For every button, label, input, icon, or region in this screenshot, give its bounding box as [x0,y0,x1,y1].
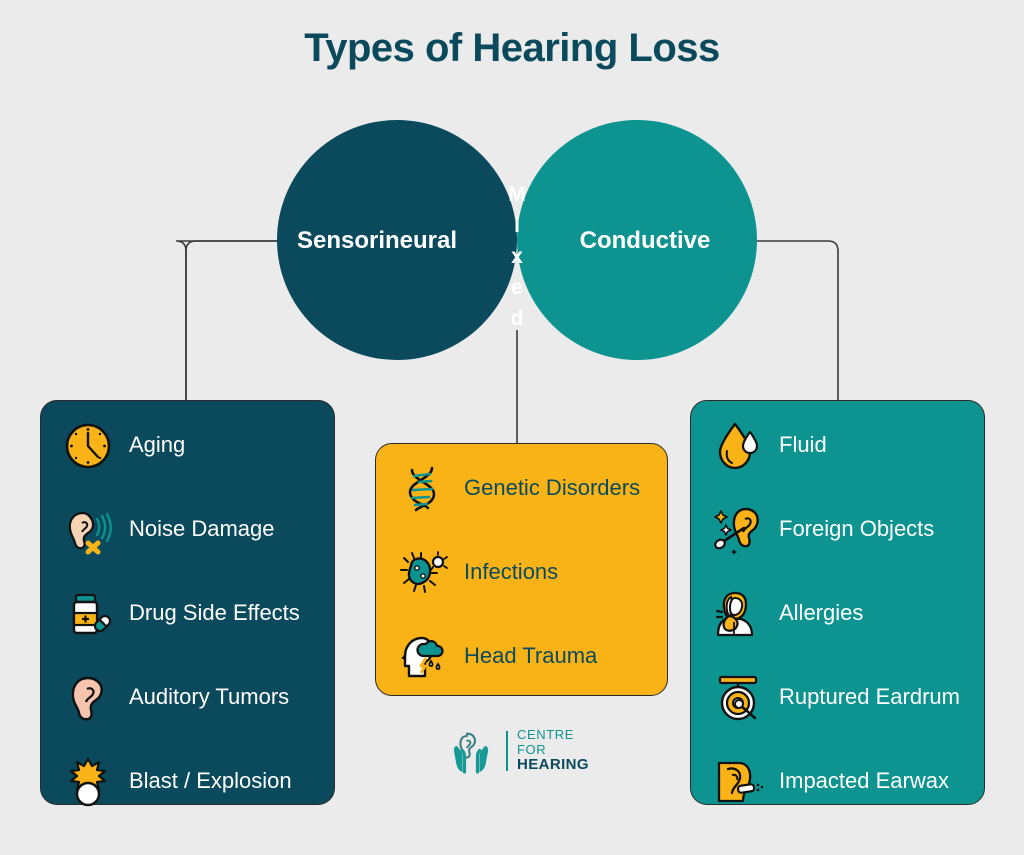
sneezing-person-icon [713,589,763,639]
list-item: Fluid [691,406,984,485]
logo: CENTRE FOR HEARING [447,720,587,782]
logo-line-3: HEARING [517,757,589,774]
list-item: Blast / Explosion [41,742,334,821]
bacteria-icon [398,548,448,598]
page-title: Types of Hearing Loss [0,26,1024,71]
list-item: Aging [41,406,334,485]
water-drop-icon [713,421,763,471]
gong-eardrum-icon [713,673,763,723]
svg-text:i: i [514,214,520,237]
card-sensorineural: Aging Noise Damage [40,400,335,805]
dna-icon [398,464,448,514]
list-item: Impacted Earwax [691,742,984,821]
hands-holding-ear-icon [447,726,497,776]
ear-soundwave-x-icon [63,505,113,555]
list-item-label: Blast / Explosion [129,769,292,793]
logo-line-1: CENTRE [517,728,589,743]
list-item-label: Auditory Tumors [129,685,289,709]
list-item: Genetic Disorders [376,449,667,528]
ear-earwax-icon [713,757,763,807]
list-item: Drug Side Effects [41,574,334,653]
list-item-label: Noise Damage [129,517,275,541]
list-item-label: Head Trauma [464,644,597,668]
list-item-label: Foreign Objects [779,517,934,541]
list-item-label: Infections [464,560,558,584]
pill-bottle-icon [63,589,113,639]
svg-text:M: M [508,183,526,206]
list-item: Head Trauma [376,617,667,696]
list-item: Foreign Objects [691,490,984,569]
logo-divider [506,731,508,771]
ear-cotton-swab-icon [713,505,763,555]
venn-label-conductive: Conductive [580,227,711,254]
list-item-label: Ruptured Eardrum [779,685,960,709]
list-item: Ruptured Eardrum [691,658,984,737]
venn-label-sensorineural: Sensorineural [297,227,457,254]
ear-icon [63,673,113,723]
list-item: Allergies [691,574,984,653]
svg-text:x: x [511,245,523,268]
list-item-label: Impacted Earwax [779,769,949,793]
list-item-label: Aging [129,433,185,457]
svg-text:e: e [511,276,523,299]
list-item: Infections [376,533,667,612]
list-item-label: Fluid [779,433,827,457]
card-mixed: Genetic Disorders In [375,443,668,696]
list-item-label: Allergies [779,601,863,625]
svg-text:d: d [511,307,524,330]
list-item: Noise Damage [41,490,334,569]
clock-icon [63,421,113,471]
bomb-explosion-icon [63,757,113,807]
infographic-canvas: Types of Hearing Loss Sensorineural Cond… [0,0,1024,855]
venn-diagram: Sensorineural Conductive M i x e d [0,100,1024,375]
head-storm-icon [398,632,448,682]
card-conductive: Fluid Foreign Objects [690,400,985,805]
list-item-label: Genetic Disorders [464,476,640,500]
list-item: Auditory Tumors [41,658,334,737]
list-item-label: Drug Side Effects [129,601,300,625]
logo-line-2: FOR [517,743,589,758]
